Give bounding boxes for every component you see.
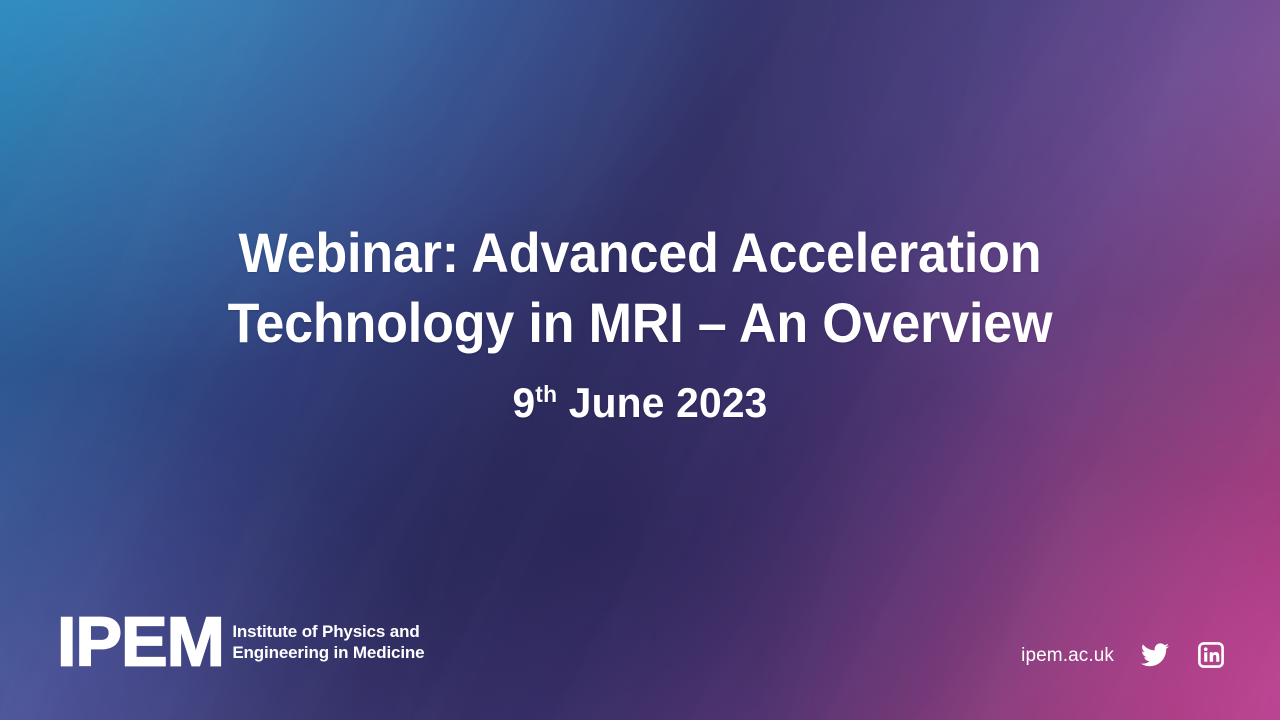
slide-date-day: 9 xyxy=(512,379,535,426)
website-url[interactable]: ipem.ac.uk xyxy=(1021,646,1114,665)
ipem-logo: IPEM Institute of Physics and Engineerin… xyxy=(57,614,424,668)
slide-title: Webinar: Advanced Acceleration Technolog… xyxy=(45,218,1235,358)
presentation-slide: Webinar: Advanced Acceleration Technolog… xyxy=(0,0,1280,720)
ipem-tagline-line-2: Engineering in Medicine xyxy=(232,642,424,664)
ipem-tagline: Institute of Physics and Engineering in … xyxy=(228,621,424,665)
twitter-icon[interactable] xyxy=(1140,640,1170,670)
slide-date: 9th June 2023 xyxy=(19,380,1261,426)
footer-right: ipem.ac.uk xyxy=(1021,640,1226,670)
slide-date-rest: June 2023 xyxy=(557,379,767,426)
linkedin-icon[interactable] xyxy=(1196,640,1226,670)
slide-date-ordinal-suffix: th xyxy=(535,381,557,407)
title-block: Webinar: Advanced Acceleration Technolog… xyxy=(0,218,1280,426)
ipem-wordmark: IPEM xyxy=(57,612,224,669)
ipem-tagline-line-1: Institute of Physics and xyxy=(232,621,424,643)
